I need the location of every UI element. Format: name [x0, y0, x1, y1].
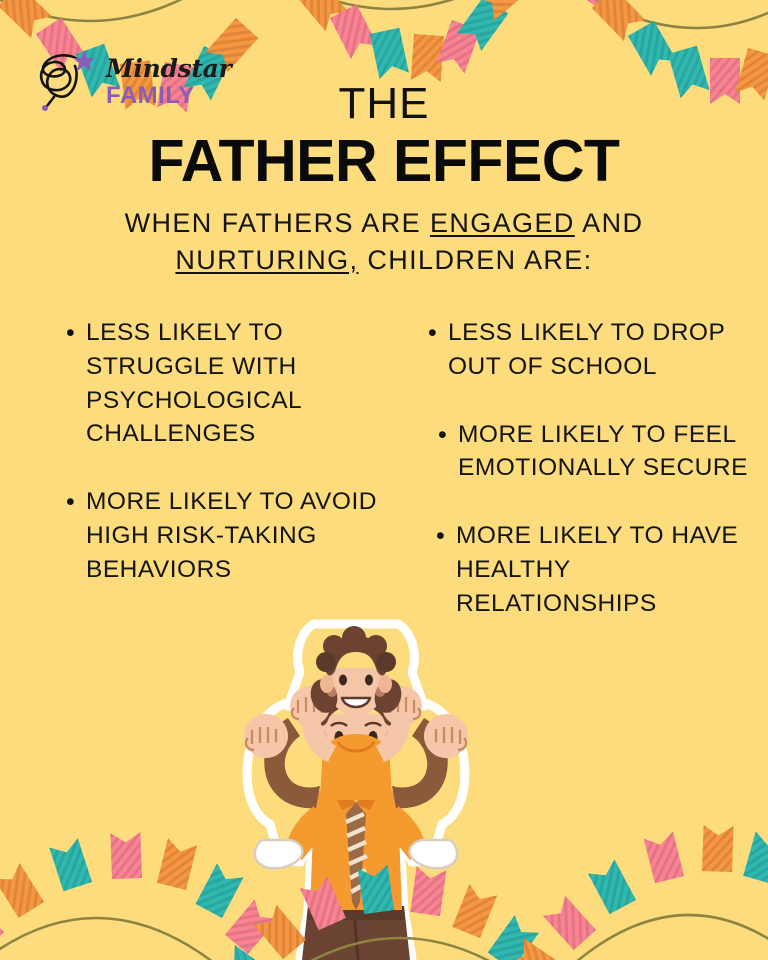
- subtitle-part-1: WHEN FATHERS ARE: [125, 208, 430, 238]
- list-item: • MORE LIKELY TO FEEL EMOTIONALLY SECURE: [438, 418, 748, 486]
- bullet-dot-icon: •: [66, 316, 86, 451]
- list-item-label: LESS LIKELY TO STRUGGLE WITH PSYCHOLOGIC…: [86, 316, 396, 451]
- subtitle-part-3: CHILDREN ARE:: [358, 245, 592, 275]
- title-line-1: THE: [0, 82, 768, 126]
- bullet-dot-icon: •: [428, 316, 448, 384]
- bullet-dot-icon: •: [438, 418, 458, 486]
- list-item-label: MORE LIKELY TO FEEL EMOTIONALLY SECURE: [458, 418, 748, 486]
- subtitle: WHEN FATHERS ARE ENGAGED AND NURTURING, …: [84, 205, 684, 278]
- list-item: • MORE LIKELY TO HAVE HEALTHY RELATIONSH…: [436, 519, 748, 620]
- list-item: • LESS LIKELY TO DROP OUT OF SCHOOL: [428, 316, 748, 384]
- subtitle-part-2: AND: [575, 208, 644, 238]
- father-carrying-daughter-icon: [196, 610, 516, 960]
- subtitle-emphasis-nurturing: NURTURING,: [175, 245, 358, 275]
- list-item: • MORE LIKELY TO AVOID HIGH RISK-TAKING …: [66, 485, 396, 586]
- list-item-label: MORE LIKELY TO HAVE HEALTHY RELATIONSHIP…: [456, 519, 748, 620]
- bullet-dot-icon: •: [436, 519, 456, 620]
- bullet-dot-icon: •: [66, 485, 86, 586]
- poster-canvas: Mindstar FAMILY THE FATHER EFFECT WHEN F…: [0, 0, 768, 960]
- subtitle-emphasis-engaged: ENGAGED: [430, 208, 575, 238]
- benefits-column-left: • LESS LIKELY TO STRUGGLE WITH PSYCHOLOG…: [66, 316, 396, 621]
- title-line-2: FATHER EFFECT: [0, 130, 768, 194]
- list-item: • LESS LIKELY TO STRUGGLE WITH PSYCHOLOG…: [66, 316, 396, 451]
- logo-name: Mindstar: [106, 56, 231, 81]
- page-title: THE FATHER EFFECT: [0, 82, 768, 194]
- benefits-column-right: • LESS LIKELY TO DROP OUT OF SCHOOL • MO…: [428, 316, 748, 655]
- list-item-label: LESS LIKELY TO DROP OUT OF SCHOOL: [448, 316, 748, 384]
- list-item-label: MORE LIKELY TO AVOID HIGH RISK-TAKING BE…: [86, 485, 396, 586]
